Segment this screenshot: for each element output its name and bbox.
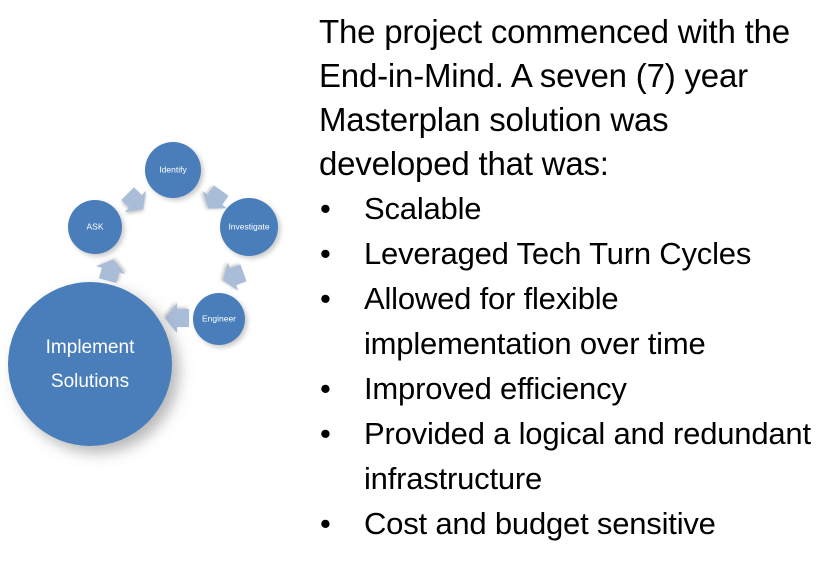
node-identify[interactable]: Identify [145, 142, 201, 198]
list-item-label: Scalable [364, 191, 481, 226]
list-item: • Scalable [316, 186, 816, 231]
node-investigate-label: Investigate [228, 221, 269, 231]
list-item: • Provided a logical and redundant infra… [316, 411, 816, 501]
list-item-label: Improved efficiency [364, 371, 627, 406]
arrow-engineer-to-implement-icon [165, 303, 189, 333]
cycle-diagram-svg: Implement Solutions Engineer Investigate… [0, 0, 310, 576]
benefits-bullet-list: • Scalable • Leveraged Tech Turn Cycles … [316, 186, 816, 546]
node-engineer[interactable]: Engineer [193, 293, 245, 345]
node-identify-label: Identify [159, 164, 187, 174]
node-ask[interactable]: ASK [68, 200, 122, 254]
process-cycle-diagram: Implement Solutions Engineer Investigate… [0, 0, 310, 576]
node-implement-label-line2: Solutions [51, 371, 129, 392]
slide-canvas: Implement Solutions Engineer Investigate… [0, 0, 823, 576]
list-item-label: Allowed for flexible implementation over… [364, 281, 706, 361]
list-item-label: Provided a logical and redundant infrast… [364, 416, 811, 496]
node-investigate[interactable]: Investigate [220, 198, 278, 256]
node-engineer-label: Engineer [202, 313, 236, 323]
node-implement-label-line1: Implement [46, 337, 135, 358]
bullet-icon: • [320, 186, 331, 231]
list-item: • Allowed for flexible implementation ov… [316, 276, 816, 366]
bullet-icon: • [320, 276, 331, 321]
list-item: • Improved efficiency [316, 366, 816, 411]
arrow-investigate-to-engineer-icon [218, 259, 249, 295]
list-item: • Cost and budget sensitive [316, 501, 816, 546]
arrow-ask-to-identify-icon [117, 183, 154, 220]
bullet-icon: • [320, 411, 331, 456]
slide-text-panel: The project commenced with the End-in-Mi… [316, 10, 816, 546]
bullet-icon: • [320, 231, 331, 276]
bullet-icon: • [320, 366, 331, 411]
list-item-label: Leveraged Tech Turn Cycles [364, 236, 751, 271]
intro-paragraph: The project commenced with the End-in-Mi… [316, 10, 816, 186]
list-item-label: Cost and budget sensitive [364, 506, 716, 541]
node-ask-label: ASK [86, 221, 103, 231]
node-implement-solutions[interactable]: Implement Solutions [8, 282, 172, 446]
arrow-implement-to-ask-icon [93, 256, 128, 285]
list-item: • Leveraged Tech Turn Cycles [316, 231, 816, 276]
bullet-icon: • [320, 501, 331, 546]
